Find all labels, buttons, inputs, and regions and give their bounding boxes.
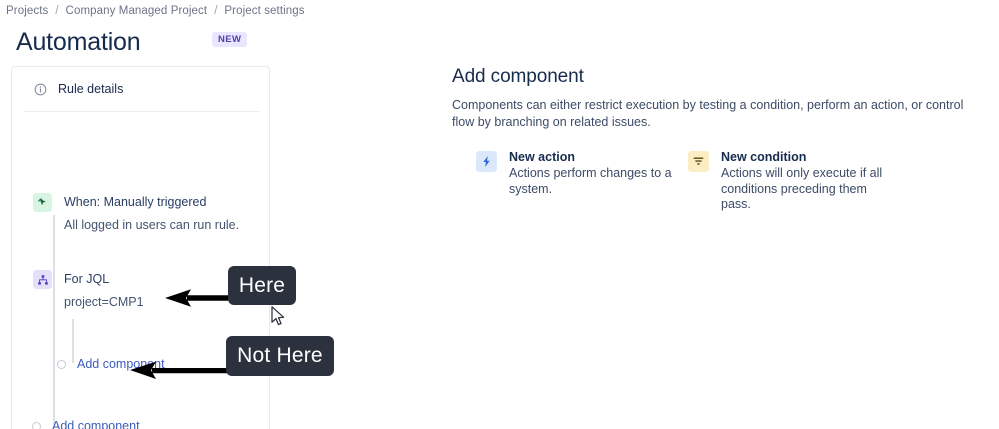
rule-step-trigger[interactable]: When: Manually triggered All logged in u… — [33, 193, 239, 233]
new-condition-description: Actions will only execute if all conditi… — [721, 166, 891, 213]
for-jql-subtitle: project=CMP1 — [64, 295, 144, 310]
annotation-arrow-not-here — [130, 357, 235, 383]
annotation-callout-here: Here — [228, 266, 296, 305]
cursor-click-icon — [33, 193, 52, 212]
automation-page: Projects / Company Managed Project / Pro… — [0, 0, 999, 429]
lightning-bolt-icon — [476, 151, 497, 172]
new-action-option[interactable]: New action Actions perform changes to a … — [476, 150, 688, 213]
add-component-root-label: Add component — [52, 419, 140, 429]
rule-details-header: Rule details — [12, 67, 269, 111]
add-component-root-button[interactable]: Add component — [32, 419, 140, 429]
breadcrumb-item-project-settings[interactable]: Project settings — [224, 5, 304, 17]
breadcrumb: Projects / Company Managed Project / Pro… — [6, 5, 305, 17]
mouse-cursor-icon — [271, 306, 286, 327]
breadcrumb-separator: / — [55, 5, 58, 17]
filter-funnel-icon — [688, 151, 709, 172]
add-component-dot-icon — [57, 360, 66, 369]
add-component-description: Components can either restrict execution… — [452, 97, 974, 131]
new-action-title: New action — [509, 150, 679, 165]
add-component-title: Add component — [452, 66, 982, 88]
rule-step-for-jql[interactable]: For JQL project=CMP1 — [33, 270, 144, 310]
new-badge: NEW — [212, 32, 247, 47]
new-condition-option[interactable]: New condition Actions will only execute … — [688, 150, 900, 213]
add-component-dot-icon — [32, 422, 41, 429]
branch-hierarchy-icon — [33, 270, 52, 289]
breadcrumb-item-company-managed-project[interactable]: Company Managed Project — [66, 5, 208, 17]
page-title: Automation — [16, 28, 140, 57]
new-action-description: Actions perform changes to a system. — [509, 166, 679, 197]
card-divider — [24, 111, 259, 112]
annotation-callout-not-here: Not Here — [226, 336, 334, 376]
add-component-panel: Add component Components can either rest… — [452, 66, 982, 131]
new-condition-title: New condition — [721, 150, 891, 165]
trigger-subtitle: All logged in users can run rule. — [64, 218, 239, 233]
for-jql-title: For JQL — [64, 272, 109, 286]
trigger-title: When: Manually triggered — [64, 195, 206, 209]
rule-details-label: Rule details — [58, 82, 123, 96]
component-options: New action Actions perform changes to a … — [476, 150, 900, 213]
breadcrumb-separator: / — [214, 5, 217, 17]
info-circle-icon — [34, 83, 47, 96]
flow-connector-line — [53, 215, 55, 425]
breadcrumb-item-projects[interactable]: Projects — [6, 5, 48, 17]
